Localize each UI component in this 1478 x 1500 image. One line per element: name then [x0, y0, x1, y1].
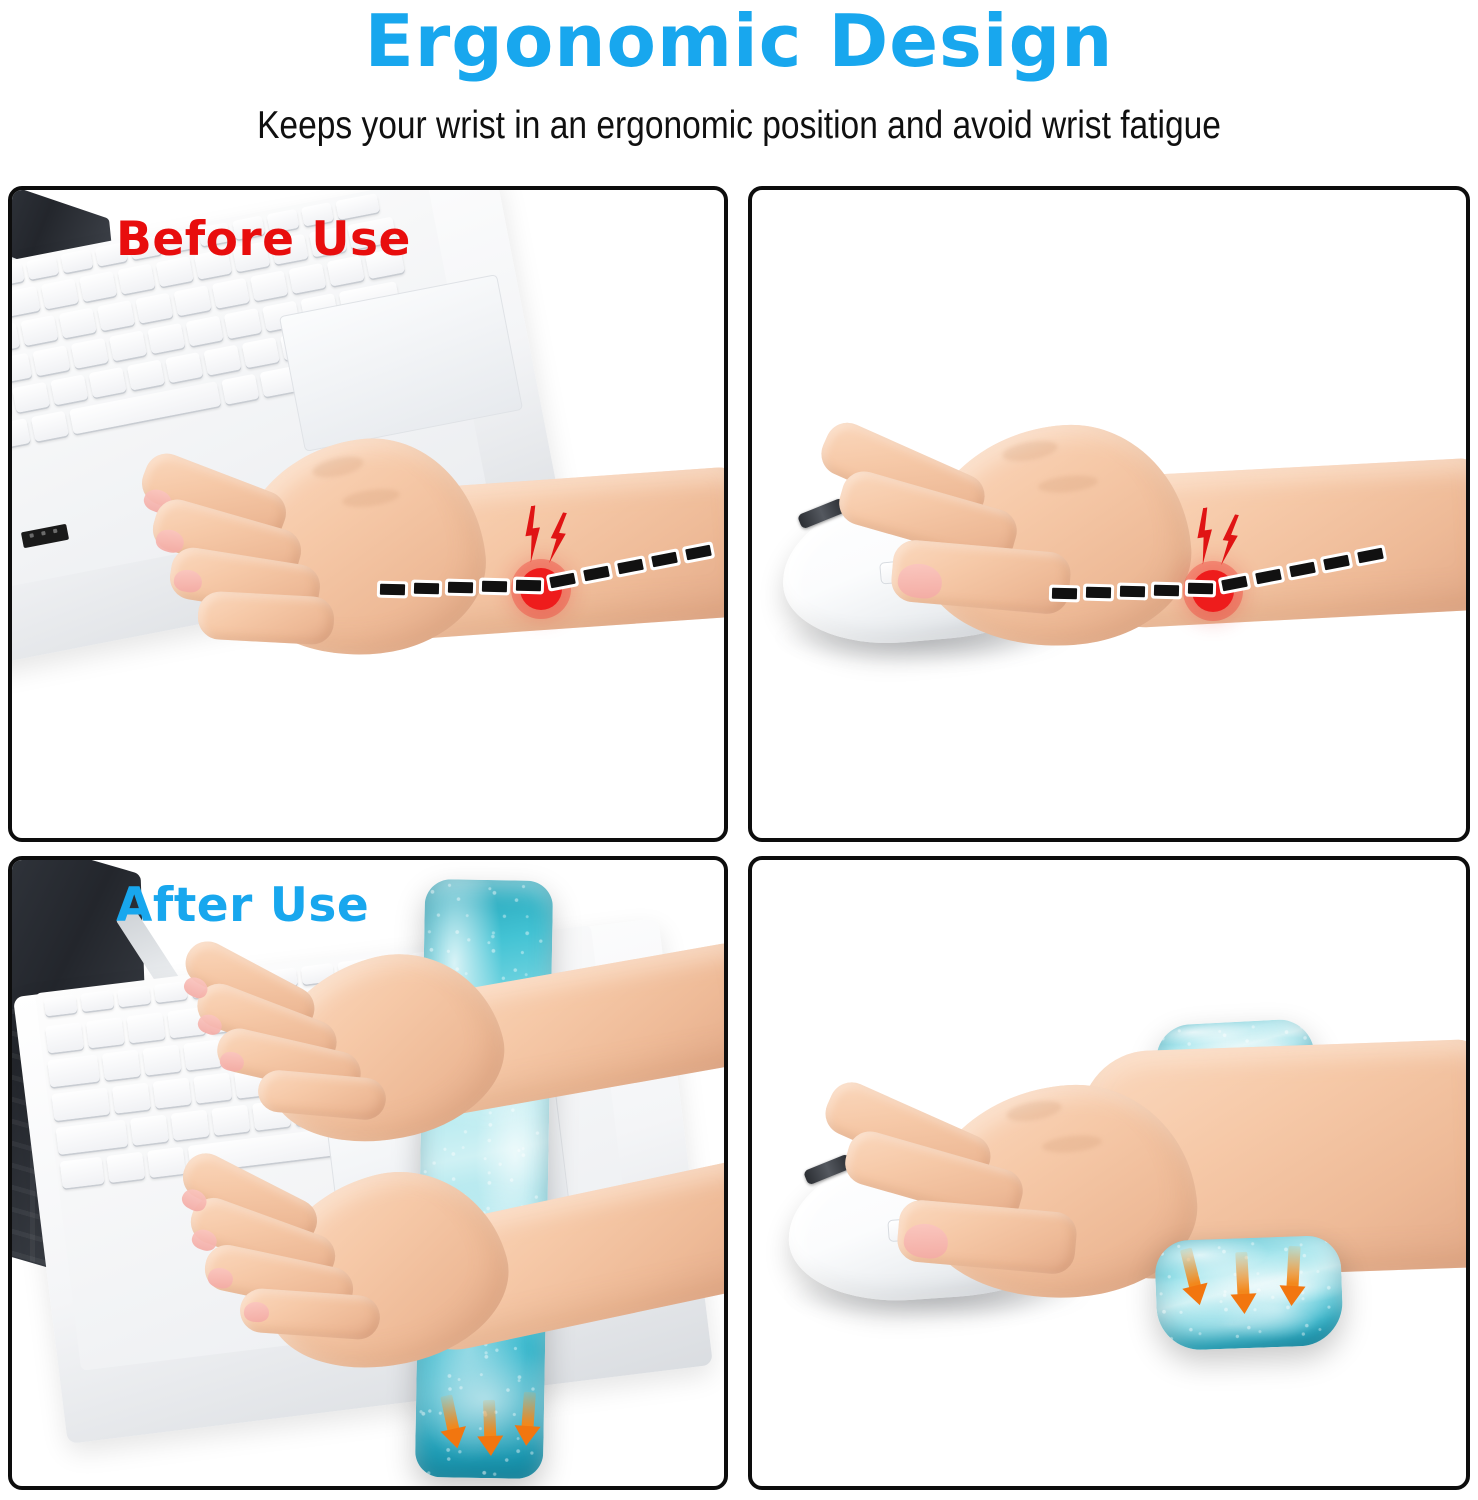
panel-after-use-keyboard: After Use	[8, 856, 728, 1490]
wrist-line-dash	[1086, 587, 1111, 599]
wrist-line-dash	[1289, 562, 1316, 578]
scene-after-mouse	[752, 860, 1466, 1486]
wrist-line-dash	[1154, 585, 1179, 597]
page-title: Ergonomic Design	[0, 4, 1478, 80]
wrist-line-dash	[1188, 583, 1213, 595]
wrist-line-dash	[651, 552, 678, 568]
pressure-arrow-icon	[513, 1391, 543, 1449]
wrist-line-dash	[414, 583, 439, 595]
wrist-line-dash	[1255, 569, 1282, 585]
fingernail	[243, 1301, 269, 1323]
pressure-arrow-icon	[1228, 1251, 1257, 1318]
wrist-line-dash	[1052, 588, 1077, 600]
pressure-arrow-icon	[476, 1400, 504, 1459]
wrist-line-dash	[685, 545, 712, 561]
wrist-line-dash	[380, 584, 405, 596]
label-before-use: Before Use	[116, 212, 411, 267]
panel-before-use-mouse	[748, 186, 1470, 842]
panel-after-use-mouse	[748, 856, 1470, 1490]
page-subtitle: Keeps your wrist in an ergonomic positio…	[103, 104, 1374, 148]
wrist-line-dash	[516, 580, 541, 592]
wrist-line-dash	[1120, 586, 1145, 598]
pain-bolt-icon	[1188, 506, 1222, 565]
wrist-line-dash	[448, 582, 473, 594]
label-after-use: After Use	[116, 878, 369, 933]
scene-after-keyboard	[12, 860, 724, 1486]
scene-before-mouse	[752, 190, 1466, 838]
wrist-line-dash	[482, 581, 507, 593]
wrist-line-dash	[583, 566, 610, 582]
panel-before-use-keyboard: Before Use	[8, 186, 728, 842]
pain-indicator	[752, 190, 1470, 842]
pressure-arrow-icon	[1278, 1245, 1307, 1308]
pain-indicator	[12, 190, 728, 842]
wrist-line-dash	[1323, 555, 1350, 571]
pain-bolt-icon	[516, 504, 550, 563]
pain-bolt-icon	[1215, 513, 1245, 568]
wrist-line-dash	[617, 559, 644, 575]
header: Ergonomic Design Keeps your wrist in an …	[0, 0, 1478, 178]
scene-before-keyboard	[12, 190, 724, 838]
wrist-line-dash	[1357, 548, 1384, 564]
pain-bolt-icon	[543, 511, 573, 566]
